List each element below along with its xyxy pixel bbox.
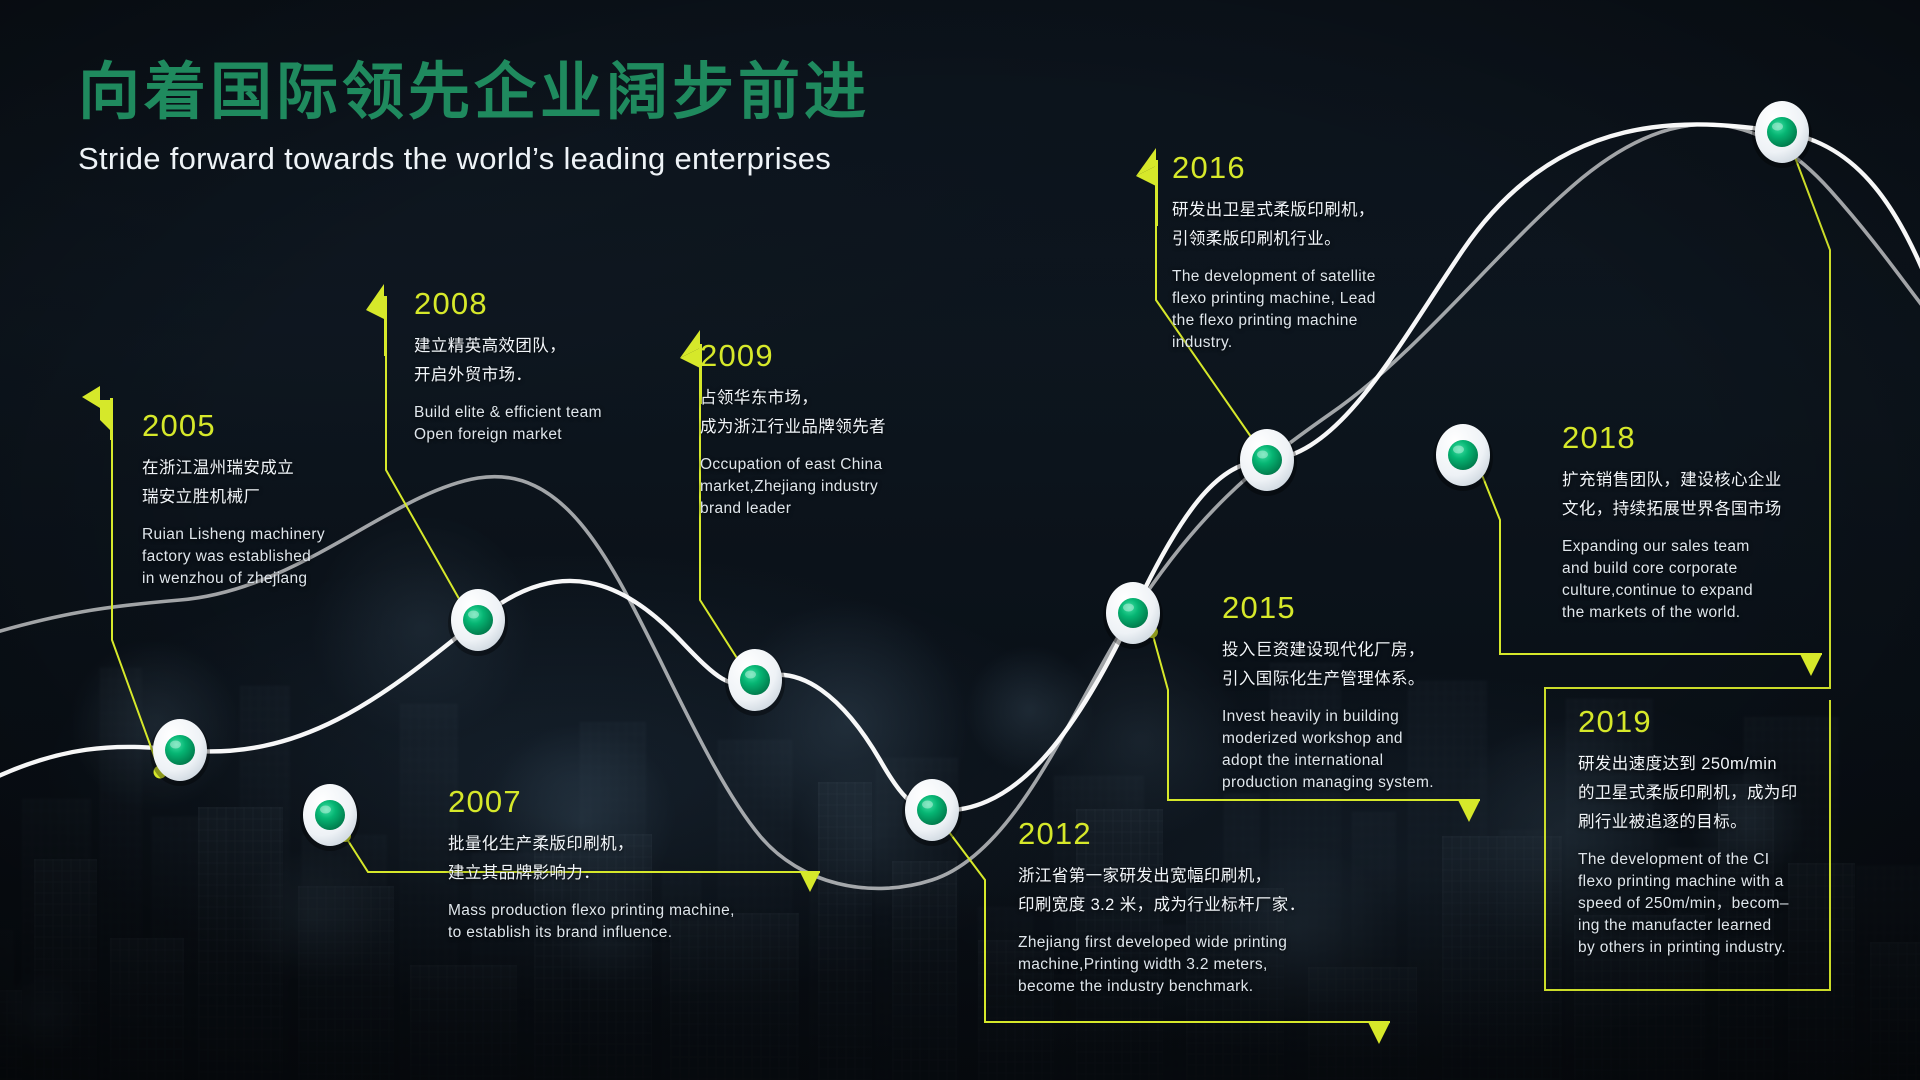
- milestone-card-2018[interactable]: 2018 扩充销售团队，建设核心企业 文化，持续拓展世界各国市场 Expandi…: [1562, 422, 1830, 624]
- page-title-cn: 向着国际领先企业阔步前进: [78, 58, 870, 127]
- page-subtitle-en: Stride forward towards the world’s leadi…: [78, 141, 870, 177]
- milestone-text-cn: 研发出速度达到 250m/min 的卫星式柔版印刷机，成为印 刷行业被追逐的目标…: [1578, 750, 1842, 837]
- milestone-card-2019[interactable]: 2019 研发出速度达到 250m/min 的卫星式柔版印刷机，成为印 刷行业被…: [1578, 706, 1842, 959]
- milestone-card-2009[interactable]: 2009 占领华东市场， 成为浙江行业品牌领先者 Occupation of e…: [700, 340, 936, 520]
- milestone-text-en: Build elite & efficient team Open foreig…: [414, 402, 664, 446]
- milestone-text-cn: 占领华东市场， 成为浙江行业品牌领先者: [700, 384, 936, 442]
- milestone-year: 2015: [1222, 592, 1492, 623]
- milestone-year: 2007: [448, 786, 848, 817]
- milestone-card-2012[interactable]: 2012 浙江省第一家研发出宽幅印刷机， 印刷宽度 3.2 米，成为行业标杆厂家…: [1018, 818, 1388, 998]
- milestone-year: 2008: [414, 288, 664, 319]
- milestone-text-en: Occupation of east China market,Zhejiang…: [700, 454, 936, 520]
- milestone-text-en: The development of the CI flexo printing…: [1578, 849, 1842, 959]
- milestone-text-cn: 建立精英高效团队， 开启外贸市场．: [414, 332, 664, 390]
- milestone-text-cn: 在浙江温州瑞安成立 瑞安立胜机械厂: [142, 454, 390, 512]
- milestone-year: 2009: [700, 340, 936, 371]
- milestone-text-cn: 批量化生产柔版印刷机， 建立其品牌影响力．: [448, 830, 848, 888]
- milestone-text-cn: 投入巨资建设现代化厂房， 引入国际化生产管理体系。: [1222, 636, 1492, 694]
- infographic-canvas: 向着国际领先企业阔步前进 Stride forward towards the …: [0, 0, 1920, 1080]
- milestone-card-2007[interactable]: 2007 批量化生产柔版印刷机， 建立其品牌影响力． Mass producti…: [448, 786, 848, 944]
- milestone-year: 2012: [1018, 818, 1388, 849]
- milestone-text-cn: 研发出卫星式柔版印刷机， 引领柔版印刷机行业。: [1172, 196, 1440, 254]
- milestone-card-2005[interactable]: 2005 在浙江温州瑞安成立 瑞安立胜机械厂 Ruian Lisheng mac…: [142, 410, 390, 590]
- milestone-card-2008[interactable]: 2008 建立精英高效团队， 开启外贸市场． Build elite & eff…: [414, 288, 664, 446]
- milestone-card-2016[interactable]: 2016 研发出卫星式柔版印刷机， 引领柔版印刷机行业。 The develop…: [1172, 152, 1440, 354]
- milestone-text-cn: 扩充销售团队，建设核心企业 文化，持续拓展世界各国市场: [1562, 466, 1830, 524]
- milestone-year: 2005: [142, 410, 390, 441]
- milestone-text-en: The development of satellite flexo print…: [1172, 266, 1440, 354]
- milestone-text-en: Mass production flexo printing machine, …: [448, 900, 848, 944]
- milestone-text-en: Zhejiang first developed wide printing m…: [1018, 932, 1388, 998]
- milestone-year: 2019: [1578, 706, 1842, 737]
- page-header: 向着国际领先企业阔步前进 Stride forward towards the …: [78, 58, 870, 177]
- milestone-year: 2016: [1172, 152, 1440, 183]
- milestone-year: 2018: [1562, 422, 1830, 453]
- milestone-card-2015[interactable]: 2015 投入巨资建设现代化厂房， 引入国际化生产管理体系。 Invest he…: [1222, 592, 1492, 794]
- milestone-text-en: Expanding our sales team and build core …: [1562, 536, 1830, 624]
- milestone-text-en: Invest heavily in building moderized wor…: [1222, 706, 1492, 794]
- milestone-text-en: Ruian Lisheng machinery factory was esta…: [142, 524, 390, 590]
- milestone-text-cn: 浙江省第一家研发出宽幅印刷机， 印刷宽度 3.2 米，成为行业标杆厂家．: [1018, 862, 1388, 920]
